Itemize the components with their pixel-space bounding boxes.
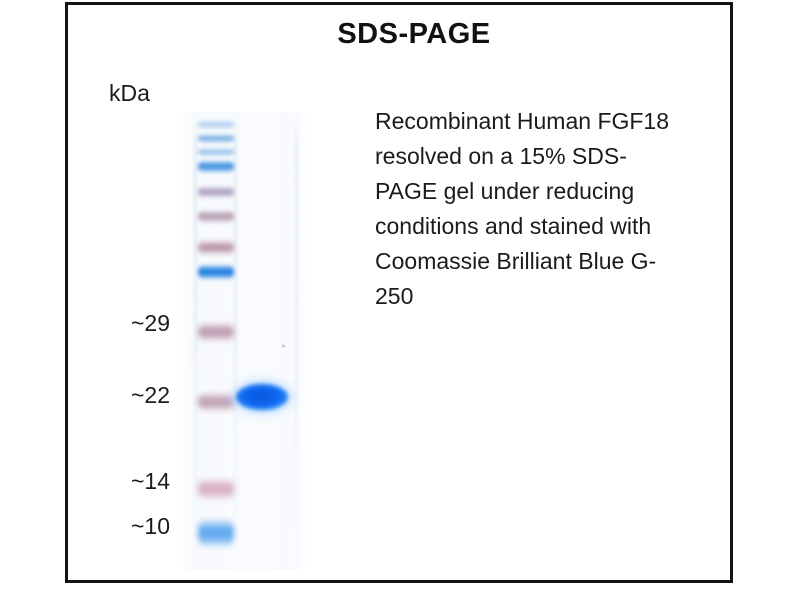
molecular-weight-ladder-lane <box>198 112 234 570</box>
protein-sample-lane <box>234 112 296 570</box>
figure-title-text: SDS-PAGE <box>337 18 490 50</box>
ladder-band-2 <box>198 134 234 143</box>
sample-band-core <box>236 384 288 410</box>
ladder-band-6 <box>198 210 234 223</box>
mw-label-29: ~29 <box>100 310 170 337</box>
mw-label-10: ~10 <box>100 513 170 540</box>
sds-page-figure: SDS-PAGE kDa ~29~22~14~10 Recombinant Hu… <box>0 0 800 600</box>
ladder-band-12 <box>198 518 234 548</box>
ladder-band-9 <box>198 322 234 342</box>
gel-speck <box>282 345 285 347</box>
mw-label-14: ~14 <box>100 468 170 495</box>
ladder-band-7 <box>198 240 234 255</box>
figure-title: SDS-PAGE <box>0 18 800 51</box>
kda-axis-caption: kDa <box>109 80 150 107</box>
gel-image <box>178 112 308 570</box>
ladder-band-11 <box>198 478 234 500</box>
fgf18-sample-band <box>236 384 288 410</box>
mw-label-22: ~22 <box>100 382 170 409</box>
ladder-band-5 <box>198 186 234 198</box>
ladder-band-8 <box>198 264 234 280</box>
ladder-band-1 <box>198 120 234 129</box>
ladder-band-4 <box>198 160 234 173</box>
figure-description: Recombinant Human FGF18 resolved on a 15… <box>375 104 675 314</box>
ladder-band-3 <box>198 148 234 156</box>
lane-edge-left <box>194 112 197 570</box>
